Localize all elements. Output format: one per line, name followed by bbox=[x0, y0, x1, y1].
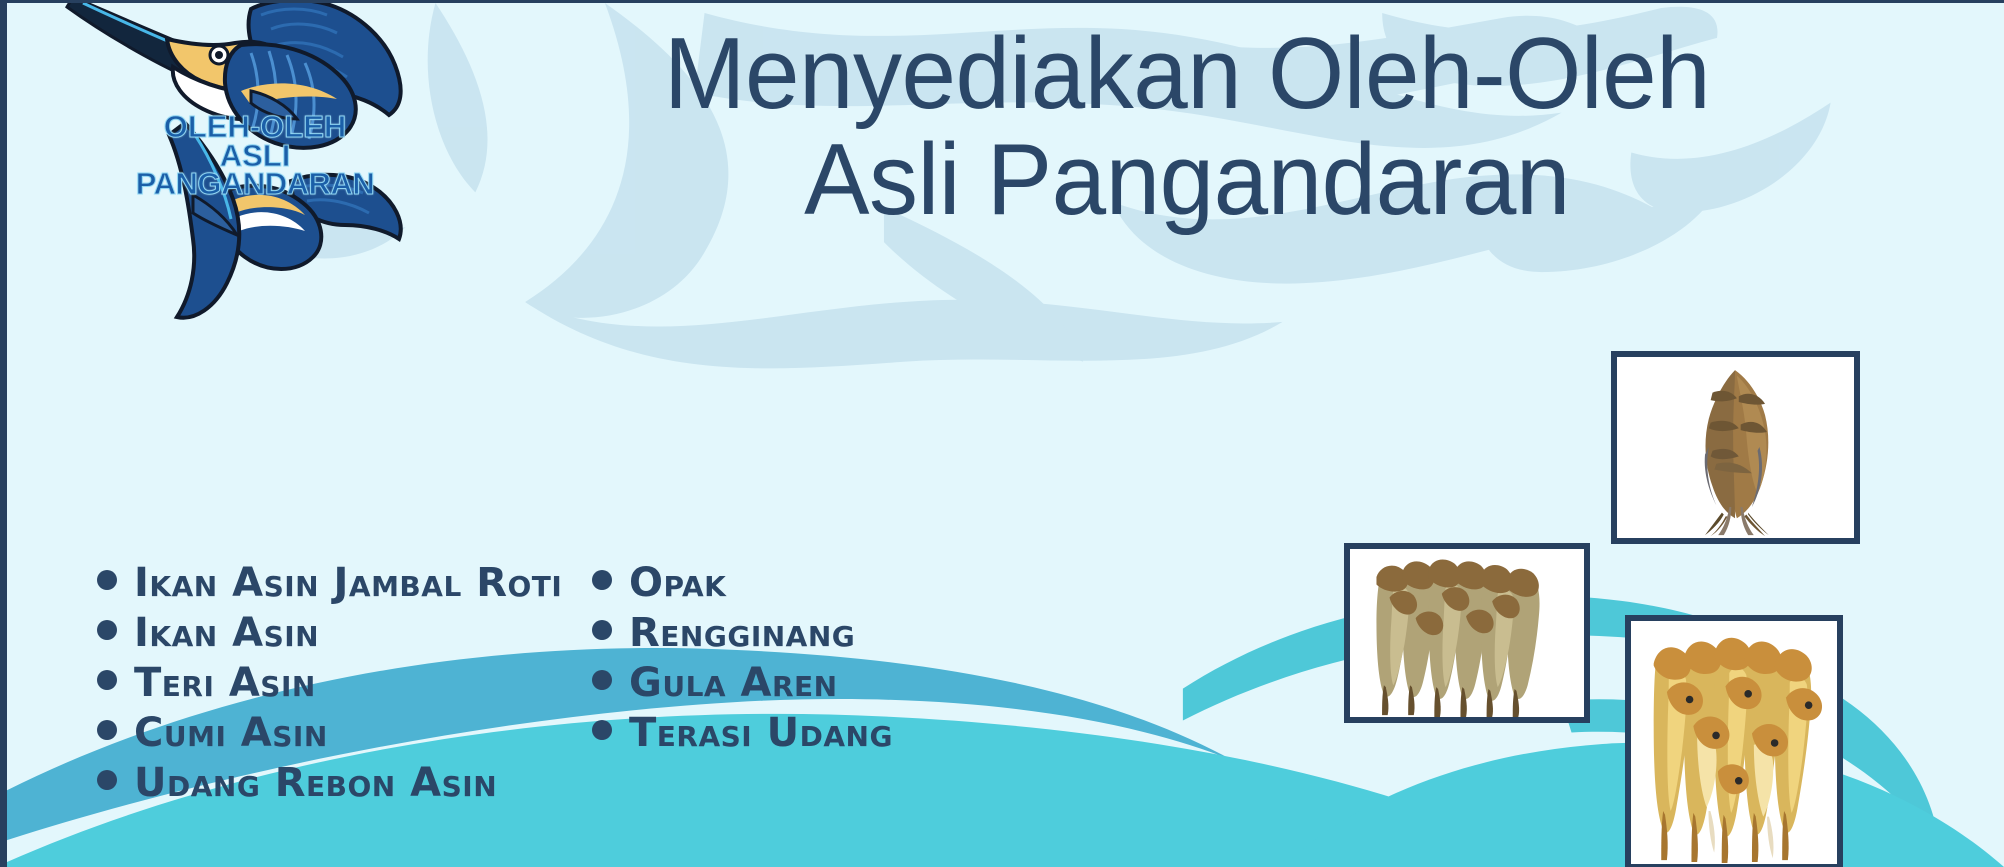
dried-fish-yellow-illustration bbox=[1631, 621, 1837, 864]
photo-dried-fish-stack bbox=[1344, 543, 1590, 723]
bullet-icon bbox=[592, 570, 612, 590]
list-item: Terasi Udang bbox=[592, 708, 893, 758]
product-list-right: Opak Rengginang Gula Aren Terasi Udang bbox=[592, 558, 893, 758]
bullet-icon bbox=[592, 670, 612, 690]
dried-fish-stack-illustration bbox=[1350, 549, 1584, 717]
bullet-icon bbox=[97, 570, 117, 590]
product-lists: Ikan Asin Jambal Roti Ikan Asin Teri Asi… bbox=[97, 558, 893, 808]
bullet-icon bbox=[97, 620, 117, 640]
list-item: Gula Aren bbox=[592, 658, 893, 708]
bullet-icon bbox=[592, 620, 612, 640]
dried-fish-pair-illustration bbox=[1617, 357, 1854, 538]
bullet-icon bbox=[592, 720, 612, 740]
product-label: Teri Asin bbox=[134, 658, 316, 708]
product-label: Rengginang bbox=[629, 608, 855, 658]
photo-dried-fish-yellow bbox=[1625, 615, 1843, 867]
list-item: Ikan Asin bbox=[97, 608, 552, 658]
list-item: Udang Rebon Asin bbox=[97, 758, 552, 808]
product-label: Cumi Asin bbox=[134, 708, 328, 758]
product-label: Ikan Asin Jambal Roti bbox=[134, 558, 562, 608]
product-label: Gula Aren bbox=[629, 658, 838, 708]
photo-dried-fish-large-pair bbox=[1611, 351, 1860, 544]
bullet-icon bbox=[97, 770, 117, 790]
product-column-right: Opak Rengginang Gula Aren Terasi Udang bbox=[592, 558, 893, 808]
bullet-icon bbox=[97, 720, 117, 740]
product-label: Ikan Asin bbox=[134, 608, 319, 658]
product-list-left: Ikan Asin Jambal Roti Ikan Asin Teri Asi… bbox=[97, 558, 552, 808]
list-item: Cumi Asin bbox=[97, 708, 552, 758]
banner-root: OLEH-OLEH ASLI PANGANDARAN Menyediakan O… bbox=[0, 0, 2004, 867]
list-item: Opak bbox=[592, 558, 893, 608]
page-title: Menyediakan Oleh-Oleh Asli Pangandaran bbox=[547, 21, 1827, 233]
product-label: Udang Rebon Asin bbox=[134, 758, 497, 808]
list-item: Ikan Asin Jambal Roti bbox=[97, 558, 552, 608]
product-column-left: Ikan Asin Jambal Roti Ikan Asin Teri Asi… bbox=[97, 558, 552, 808]
title-line-1: Menyediakan Oleh-Oleh bbox=[547, 21, 1827, 127]
sailfish-logo: OLEH-OLEH ASLI PANGANDARAN bbox=[55, 0, 455, 325]
logo-text-block: OLEH-OLEH ASLI PANGANDARAN bbox=[55, 113, 455, 199]
title-line-2: Asli Pangandaran bbox=[547, 127, 1827, 233]
list-item: Rengginang bbox=[592, 608, 893, 658]
bullet-icon bbox=[97, 670, 117, 690]
list-item: Teri Asin bbox=[97, 658, 552, 708]
logo-line-3: PANGANDARAN bbox=[55, 170, 455, 199]
product-label: Opak bbox=[629, 558, 726, 608]
product-label: Terasi Udang bbox=[629, 708, 893, 758]
